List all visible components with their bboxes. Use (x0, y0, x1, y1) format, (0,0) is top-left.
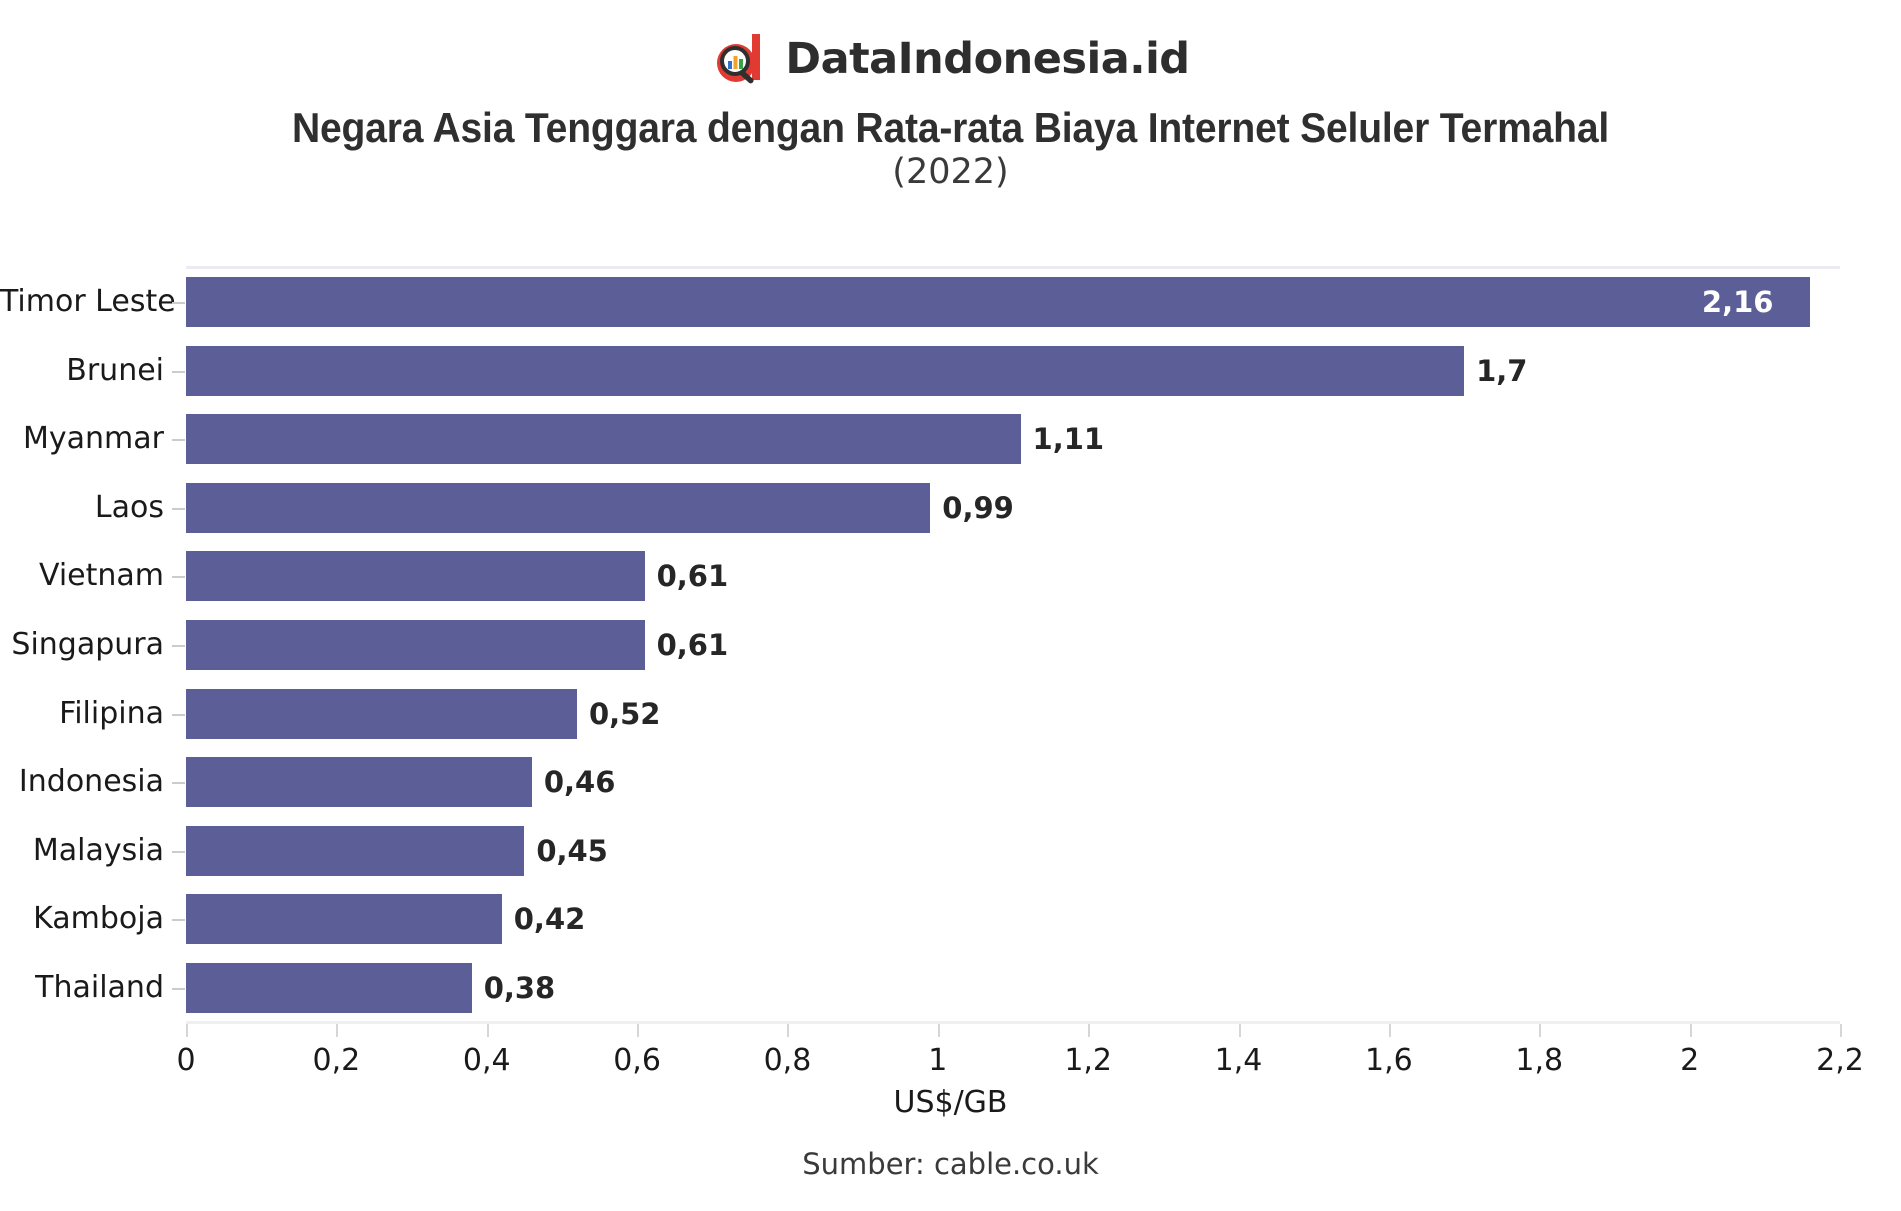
bar (186, 414, 1021, 464)
y-axis-label-vietnam: Vietnam (0, 558, 164, 593)
y-axis-label-kamboja: Kamboja (0, 901, 164, 936)
bar-row: 0,99 (186, 474, 1840, 543)
bar-row: 0,52 (186, 679, 1840, 748)
bar (186, 757, 532, 807)
bar-value-label: 0,46 (544, 765, 616, 799)
bar (186, 963, 472, 1013)
x-axis-tick (637, 1024, 639, 1037)
x-axis-tick-label: 0,6 (613, 1043, 661, 1078)
x-axis-tick-label: 1,6 (1365, 1043, 1413, 1078)
plot-area: 2,161,71,110,990,610,610,520,460,450,420… (186, 268, 1840, 1022)
bar-value-label: 0,42 (514, 902, 586, 936)
x-axis-tick (1539, 1024, 1541, 1037)
x-axis-tick (1840, 1024, 1842, 1037)
x-axis-tick-label: 2 (1680, 1043, 1699, 1078)
bar-value-label: 1,11 (1033, 422, 1105, 456)
x-axis-tick (186, 1024, 188, 1037)
x-axis-tick-label: 2,2 (1816, 1043, 1864, 1078)
y-axis-label-thailand: Thailand (0, 970, 164, 1005)
x-axis-tick-label: 0,2 (313, 1043, 361, 1078)
x-axis-tick-label: 0,4 (463, 1043, 511, 1078)
x-axis-tick (336, 1024, 338, 1037)
bar-value-label: 0,45 (536, 834, 608, 868)
y-axis-tick (172, 919, 185, 921)
bar-row: 0,46 (186, 748, 1840, 817)
bar (186, 551, 645, 601)
y-axis-tick (172, 988, 185, 990)
bar-row: 0,61 (186, 611, 1840, 680)
x-axis-tick (1088, 1024, 1090, 1037)
bar-row: 1,7 (186, 337, 1840, 406)
x-axis-tick (938, 1024, 940, 1037)
y-axis-tick (172, 302, 185, 304)
bar-value-label: 1,7 (1476, 354, 1527, 388)
x-axis-tick-label: 1,8 (1515, 1043, 1563, 1078)
y-axis-tick (172, 371, 185, 373)
bar-row: 0,42 (186, 885, 1840, 954)
x-axis-title: US$/GB (0, 1085, 1901, 1120)
y-axis-tick (172, 576, 185, 578)
bar-row: 0,45 (186, 816, 1840, 885)
x-axis-tick (487, 1024, 489, 1037)
bar (186, 483, 930, 533)
y-axis-label-myanmar: Myanmar (0, 421, 164, 456)
bar (186, 826, 524, 876)
x-axis-tick-label: 0,8 (764, 1043, 812, 1078)
bar-value-label: 0,52 (589, 697, 661, 731)
y-axis-label-indonesia: Indonesia (0, 764, 164, 799)
bar-value-label: 0,61 (657, 559, 729, 593)
y-axis-tick (172, 439, 185, 441)
y-axis-tick (172, 508, 185, 510)
bar-row: 0,61 (186, 542, 1840, 611)
bar-value-label: 0,61 (657, 628, 729, 662)
bar-value-label: 2,16 (1702, 285, 1792, 319)
bar (186, 894, 502, 944)
x-axis-tick (787, 1024, 789, 1037)
x-axis-tick (1389, 1024, 1391, 1037)
y-axis-label-brunei: Brunei (0, 353, 164, 388)
bar (186, 277, 1810, 327)
x-axis-tick-label: 0 (176, 1043, 195, 1078)
x-axis-tick (1690, 1024, 1692, 1037)
y-axis-label-singapura: Singapura (0, 627, 164, 662)
bar-row: 2,16 (186, 268, 1840, 337)
y-axis-tick (172, 714, 185, 716)
x-axis-tick (1239, 1024, 1241, 1037)
y-axis-label-timor-leste: Timor Leste (0, 284, 164, 319)
x-axis-tick-label: 1,4 (1215, 1043, 1263, 1078)
y-axis-tick (172, 645, 185, 647)
y-axis-label-malaysia: Malaysia (0, 833, 164, 868)
bar-value-label: 0,38 (484, 971, 556, 1005)
bar-row: 1,11 (186, 405, 1840, 474)
y-axis-label-filipina: Filipina (0, 696, 164, 731)
bar-value-label: 0,99 (942, 491, 1014, 525)
bar (186, 689, 577, 739)
bar (186, 346, 1464, 396)
y-axis-label-laos: Laos (0, 490, 164, 525)
x-axis-tick-label: 1,2 (1064, 1043, 1112, 1078)
bar-row: 0,38 (186, 953, 1840, 1022)
bar (186, 620, 645, 670)
y-axis-tick (172, 782, 185, 784)
chart-plot: 2,161,71,110,990,610,610,520,460,450,420… (0, 0, 1901, 1211)
source-note: Sumber: cable.co.uk (0, 1147, 1901, 1181)
y-axis-tick (172, 851, 185, 853)
x-axis-tick-label: 1 (928, 1043, 947, 1078)
